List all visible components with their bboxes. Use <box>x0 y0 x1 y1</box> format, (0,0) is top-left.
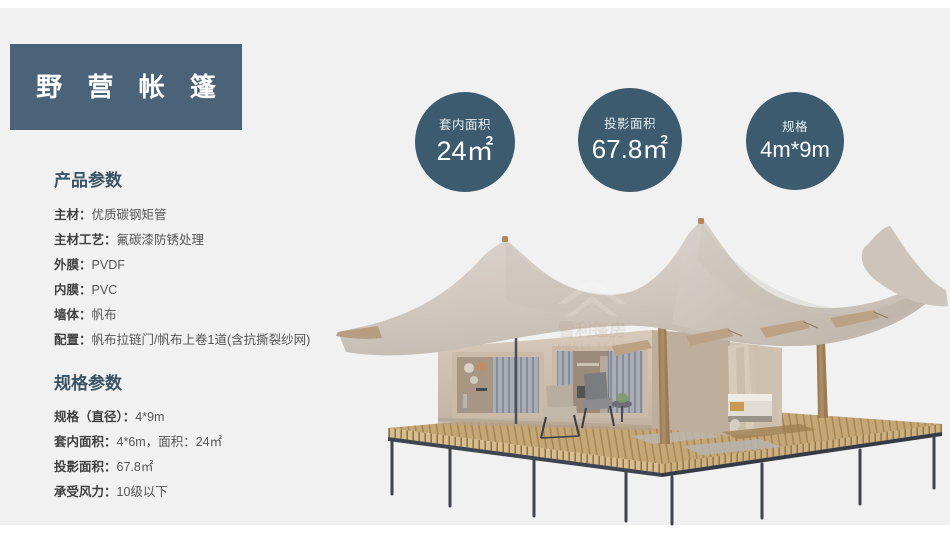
page-title-banner: 野 营 帐 篷 <box>10 44 242 130</box>
stat-value: 67.8㎡ <box>592 136 669 162</box>
tent-product-image: 雪利篷房 XUELI TENT <box>330 196 950 526</box>
spec-value: PVC <box>92 283 118 297</box>
spec-value: PVDF <box>92 258 125 272</box>
page-title: 野 营 帐 篷 <box>27 74 225 100</box>
spec-value: 67.8㎡ <box>117 460 154 474</box>
spec-label: 主材工艺： <box>54 233 117 247</box>
spec-label: 承受风力： <box>54 485 117 499</box>
stat-badge-indoor-area: 套内面积 24㎡ <box>415 92 515 192</box>
spec-label: 投影面积： <box>54 460 117 474</box>
spec-value: 氟碳漆防锈处理 <box>117 233 205 247</box>
stat-label: 规格 <box>782 121 808 135</box>
stat-label: 套内面积 <box>439 119 491 133</box>
spec-label: 外膜： <box>54 258 92 272</box>
spec-value: 4*6m，面积：24㎡ <box>117 435 223 449</box>
product-spec-page: 野 营 帐 篷 产品参数 主材：优质碳钢矩管 主材工艺：氟碳漆防锈处理 外膜：P… <box>0 0 950 534</box>
spec-value: 帆布 <box>92 308 117 322</box>
spec-label: 配置： <box>54 333 92 347</box>
product-params-heading: 产品参数 <box>54 172 384 191</box>
top-border-strip <box>0 0 950 8</box>
spec-label: 主材： <box>54 208 92 222</box>
stat-label: 投影面积 <box>604 118 656 132</box>
spec-label: 墙体： <box>54 308 92 322</box>
stat-badge-projected-area: 投影面积 67.8㎡ <box>578 88 682 192</box>
spec-label: 套内面积： <box>54 435 117 449</box>
spec-label: 规格（直径）： <box>54 410 135 424</box>
stat-badge-dimension: 规格 4m*9m <box>746 92 844 190</box>
stat-value: 4m*9m <box>760 139 830 161</box>
spec-label: 内膜： <box>54 283 92 297</box>
svg-text:XUELI TENT: XUELI TENT <box>556 341 628 351</box>
spec-value: 优质碳钢矩管 <box>92 208 167 222</box>
spec-value: 4*9m <box>135 410 164 424</box>
bottom-border-strip <box>0 525 950 534</box>
svg-text:雪利篷房: 雪利篷房 <box>558 320 626 340</box>
spec-value: 帆布拉链门/帆布上卷1道(含抗撕裂纱网) <box>92 333 311 347</box>
stat-value: 24㎡ <box>436 138 493 165</box>
spec-value: 10级以下 <box>117 485 168 499</box>
